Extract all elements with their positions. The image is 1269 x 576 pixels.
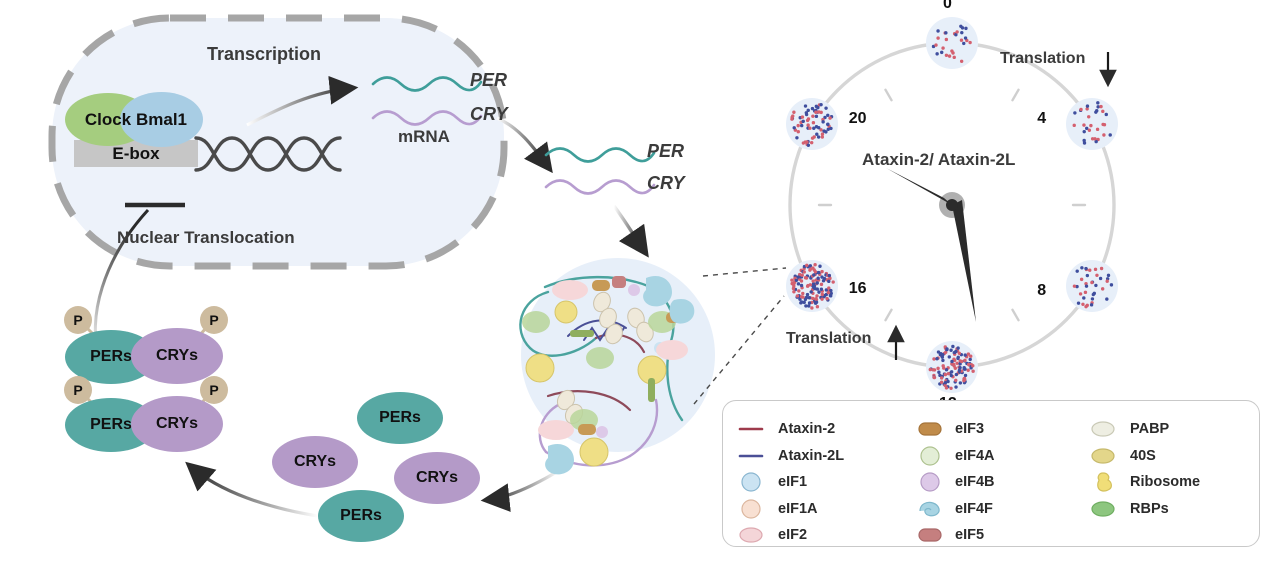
legend-item-rbps: RBPs [1090, 498, 1169, 520]
legend-label: eIF3 [955, 421, 984, 437]
figure-canvas: 048121620 Transcription Nuclear Transloc… [0, 0, 1269, 576]
legend-item-eif1: eIF1 [738, 471, 807, 493]
translation-down-label: Translation [1000, 50, 1085, 68]
legend-item-ribosome: Ribosome [1090, 471, 1200, 493]
legend-swatch-icon [738, 524, 764, 546]
legend-item-ataxin-2l: Ataxin-2L [738, 445, 844, 467]
legend-swatch-icon [1090, 418, 1116, 440]
legend-swatch-icon [1090, 498, 1116, 520]
legend-item-eif4f: eIF4F [917, 498, 993, 520]
crys-oval-complex-2: CRYs [131, 396, 223, 452]
legend-item-40s: 40S [1090, 445, 1156, 467]
legend-swatch-icon [917, 498, 943, 520]
legend-label: 40S [1130, 448, 1156, 464]
legend-item-eif2: eIF2 [738, 524, 807, 546]
legend-swatch-icon [1090, 445, 1116, 467]
legend-swatch-icon [738, 471, 764, 493]
legend-label: eIF4A [955, 448, 995, 464]
free-crys-oval-1: CRYs [272, 436, 358, 488]
phospho-badge-1: P [64, 306, 92, 334]
legend-swatch-icon [917, 418, 943, 440]
phospho-badge-3: P [64, 376, 92, 404]
legend-label: eIF4F [955, 501, 993, 517]
legend-label: Ataxin-2 [778, 421, 835, 437]
legend-label: PABP [1130, 421, 1169, 437]
legend-swatch-icon [738, 445, 764, 467]
legend-item-eif4a: eIF4A [917, 445, 995, 467]
free-crys-oval-2: CRYs [394, 452, 480, 504]
legend-item-eif3: eIF3 [917, 418, 984, 440]
legend-label: eIF1 [778, 474, 807, 490]
legend-label: Ataxin-2L [778, 448, 844, 464]
legend-item-ataxin-2: Ataxin-2 [738, 418, 835, 440]
free-pers-oval-1: PERs [357, 392, 443, 444]
phospho-badge-2: P [200, 306, 228, 334]
clock-center-label: Ataxin-2/ Ataxin-2L [862, 150, 1015, 170]
legend-swatch-icon [738, 418, 764, 440]
legend-item-eif1a: eIF1A [738, 498, 818, 520]
free-pers-oval-2: PERs [318, 490, 404, 542]
legend-label: RBPs [1130, 501, 1169, 517]
legend-label: eIF1A [778, 501, 818, 517]
legend-label: eIF5 [955, 527, 984, 543]
legend-swatch-icon [1090, 471, 1116, 493]
legend-label: eIF2 [778, 527, 807, 543]
legend-label: Ribosome [1130, 474, 1200, 490]
legend-item-eif4b: eIF4B [917, 471, 995, 493]
translation-up-label: Translation [786, 330, 871, 348]
legend-item-pabp: PABP [1090, 418, 1169, 440]
legend-label: eIF4B [955, 474, 995, 490]
legend-swatch-icon [917, 445, 943, 467]
phospho-badge-4: P [200, 376, 228, 404]
legend-swatch-icon [738, 498, 764, 520]
legend-swatch-icon [917, 471, 943, 493]
legend-swatch-icon [917, 524, 943, 546]
legend-item-eif5: eIF5 [917, 524, 984, 546]
